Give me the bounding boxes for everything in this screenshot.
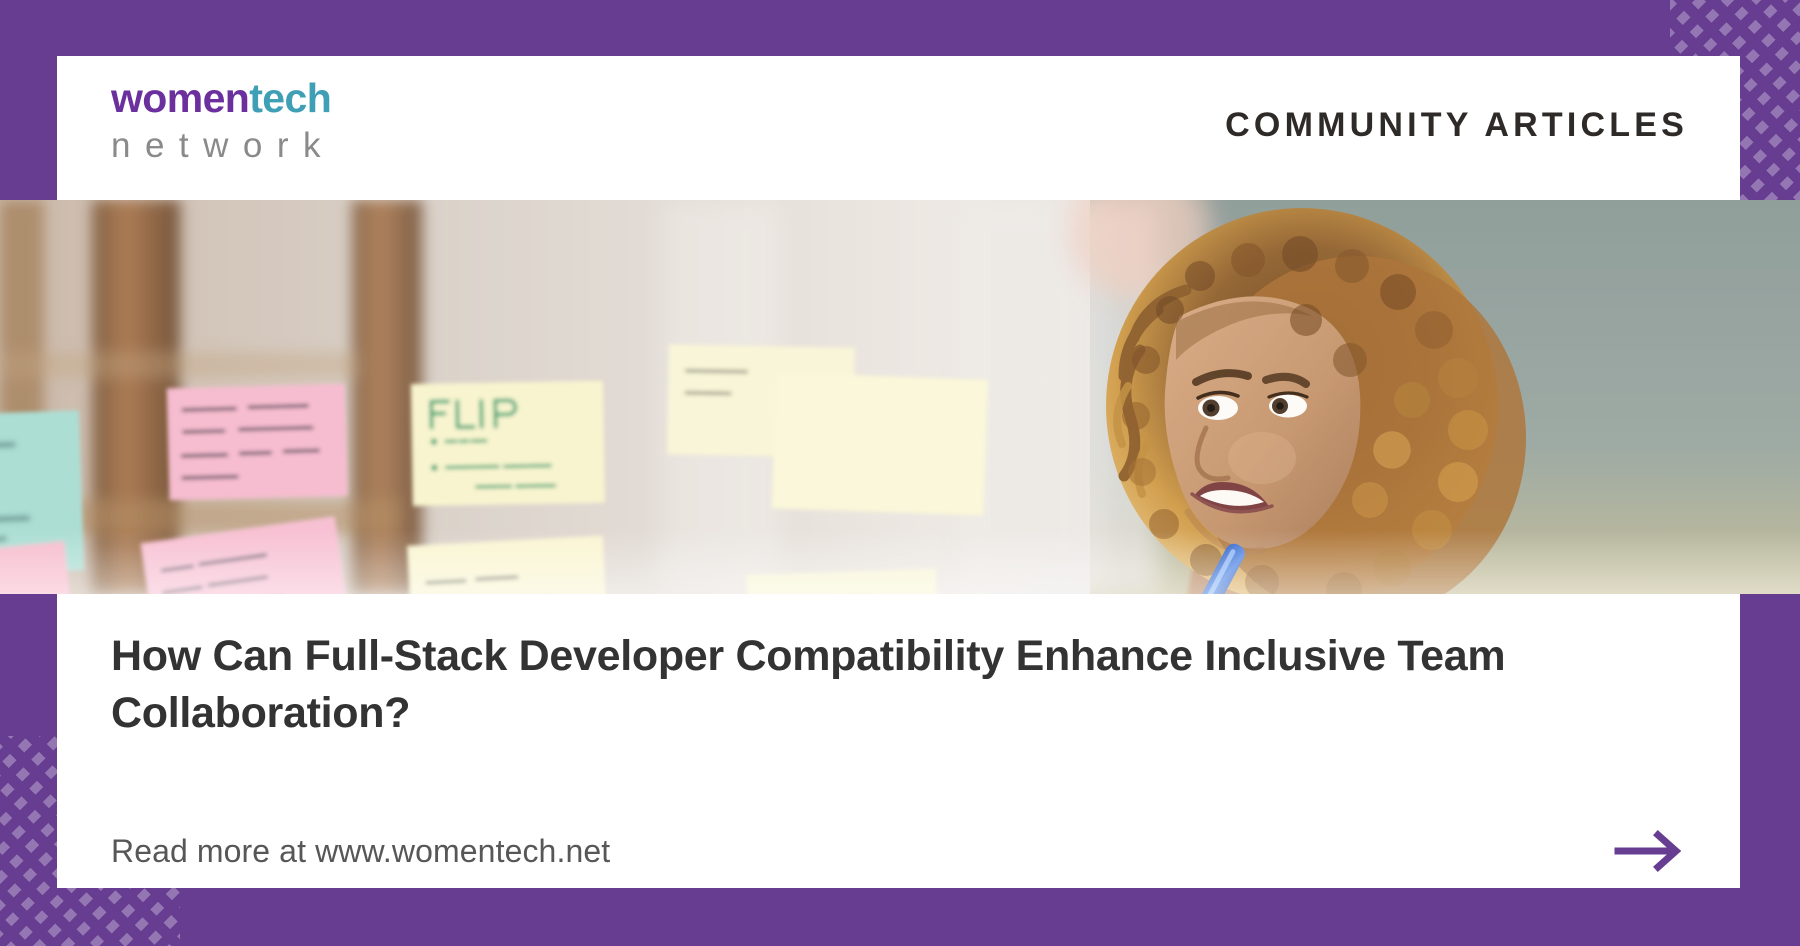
hero-image [0,200,1800,594]
logo-wordmark: womentech [111,78,335,119]
article-title: How Can Full-Stack Developer Compatibili… [111,628,1671,742]
poster-canvas: womentech network COMMUNITY ARTICLES [0,0,1800,946]
section-label: COMMUNITY ARTICLES [1225,106,1688,145]
card-header: womentech network COMMUNITY ARTICLES [57,56,1740,200]
card-footer: Read more at www.womentech.net [111,816,1688,886]
womentech-network-logo[interactable]: womentech network [111,78,335,163]
article-card: womentech network COMMUNITY ARTICLES [57,56,1740,888]
logo-women-text: women [111,75,249,121]
logo-tech-text: tech [249,75,331,121]
read-more-text: Read more at www.womentech.net [111,833,610,870]
arrow-right-icon[interactable] [1614,828,1688,874]
logo-network-text: network [111,128,335,163]
